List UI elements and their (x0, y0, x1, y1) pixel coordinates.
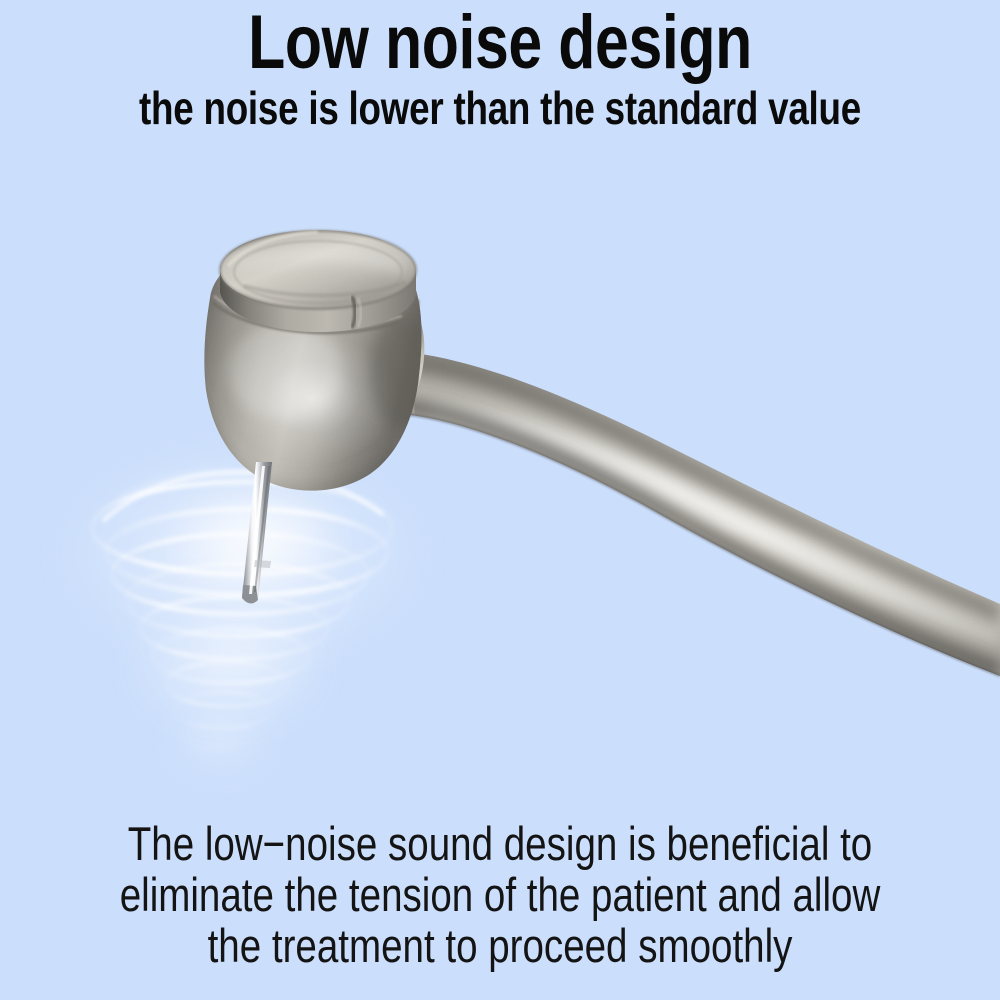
page-subtitle: the noise is lower than the standard val… (100, 82, 900, 134)
shaft-body (380, 340, 1000, 700)
head-cap (216, 228, 422, 332)
caption-line-3: the treatment to proceed smoothly (90, 920, 910, 971)
bur-band (254, 560, 271, 568)
bur-drill-bit (242, 462, 272, 604)
head-hotspot-core (228, 324, 344, 420)
top-text-block: Low noise design the noise is lower than… (0, 0, 1000, 134)
shaft-bottom-shade (400, 398, 1000, 678)
caption-line-1: The low−noise sound design is beneficial… (90, 818, 910, 869)
caption-line-2: eliminate the tension of the patient and… (90, 869, 910, 920)
bottom-text-block: The low−noise sound design is beneficial… (0, 818, 1000, 971)
page-title: Low noise design (100, 0, 900, 86)
product-feature-banner: Low noise design the noise is lower than… (0, 0, 1000, 1000)
